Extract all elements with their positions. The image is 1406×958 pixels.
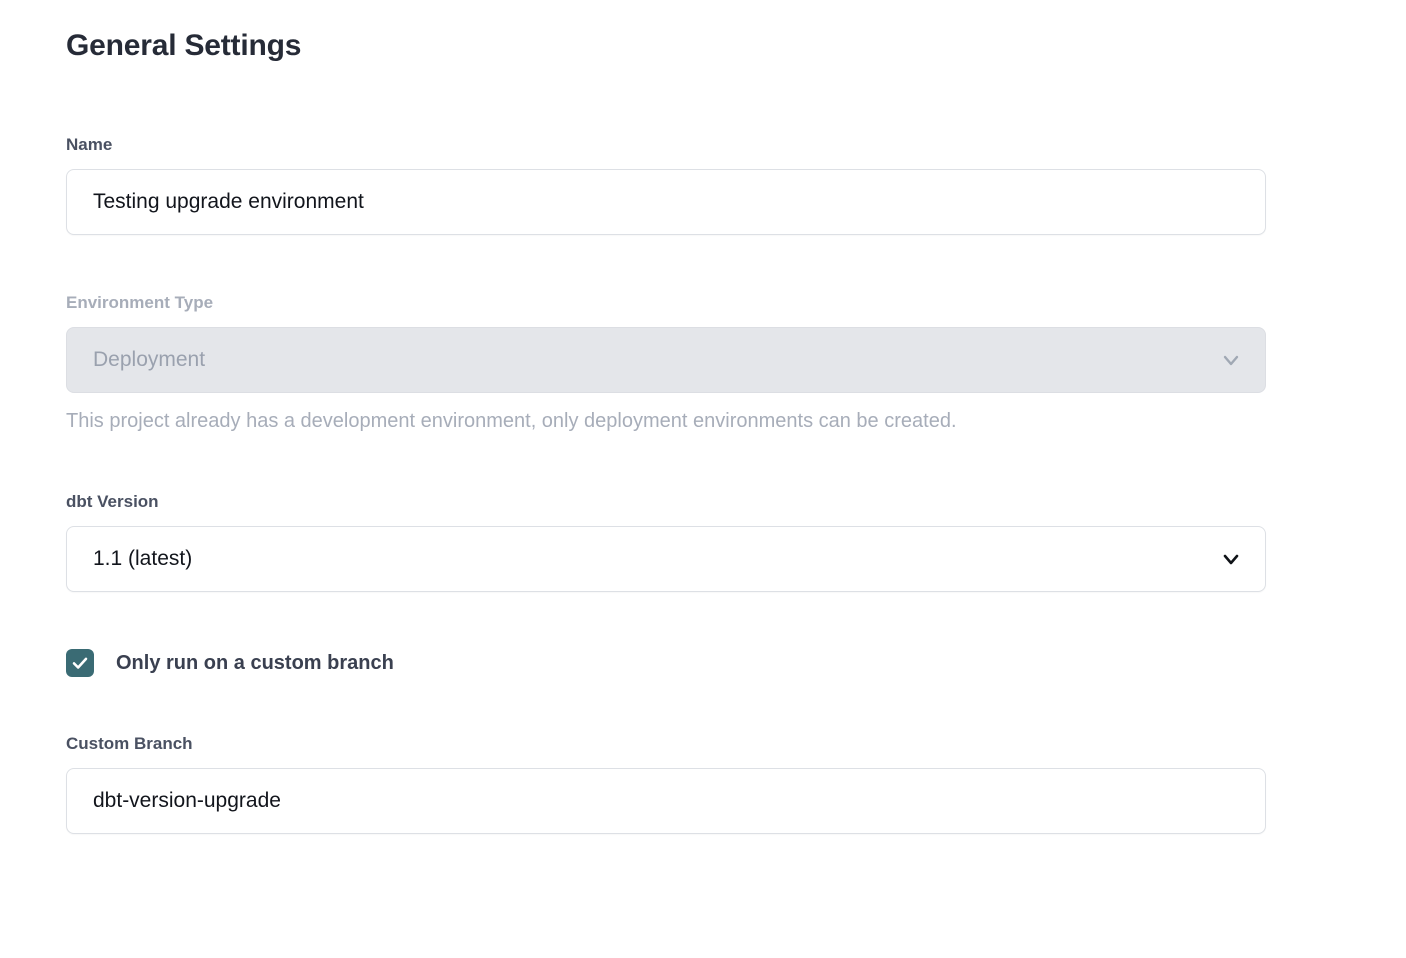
environment-type-select-shell[interactable]: Deployment xyxy=(66,327,1266,393)
dbt-version-field-group: dbt Version 1.1 (latest) xyxy=(66,491,1266,592)
environment-type-help-text: This project already has a development e… xyxy=(66,407,1266,435)
custom-branch-checkbox-label[interactable]: Only run on a custom branch xyxy=(116,650,394,676)
custom-branch-input-shell[interactable] xyxy=(66,768,1266,834)
name-input[interactable] xyxy=(67,188,1265,216)
dbt-version-field-label: dbt Version xyxy=(66,491,1266,513)
custom-branch-checkbox[interactable] xyxy=(66,649,94,677)
custom-branch-field-label: Custom Branch xyxy=(66,733,1266,755)
dbt-version-select-shell[interactable]: 1.1 (latest) xyxy=(66,526,1266,592)
name-field-label: Name xyxy=(66,134,1266,156)
name-input-shell[interactable] xyxy=(66,169,1266,235)
environment-type-field-group: Environment Type Deployment This project… xyxy=(66,292,1266,435)
custom-branch-input[interactable] xyxy=(67,787,1265,815)
name-field-group: Name xyxy=(66,134,1266,235)
environment-type-selected-value: Deployment xyxy=(67,346,1219,374)
dbt-version-selected-value: 1.1 (latest) xyxy=(67,545,1219,573)
chevron-down-icon[interactable] xyxy=(1219,328,1265,392)
chevron-down-icon[interactable] xyxy=(1219,527,1265,591)
settings-content: General Settings Name Environment Type D… xyxy=(0,0,1406,834)
check-icon xyxy=(71,654,89,672)
custom-branch-checkbox-row[interactable]: Only run on a custom branch xyxy=(66,649,1266,677)
page-title: General Settings xyxy=(66,26,1266,66)
general-settings-page: General Settings Name Environment Type D… xyxy=(0,0,1406,958)
custom-branch-field-group: Custom Branch xyxy=(66,733,1266,834)
environment-type-field-label: Environment Type xyxy=(66,292,1266,314)
